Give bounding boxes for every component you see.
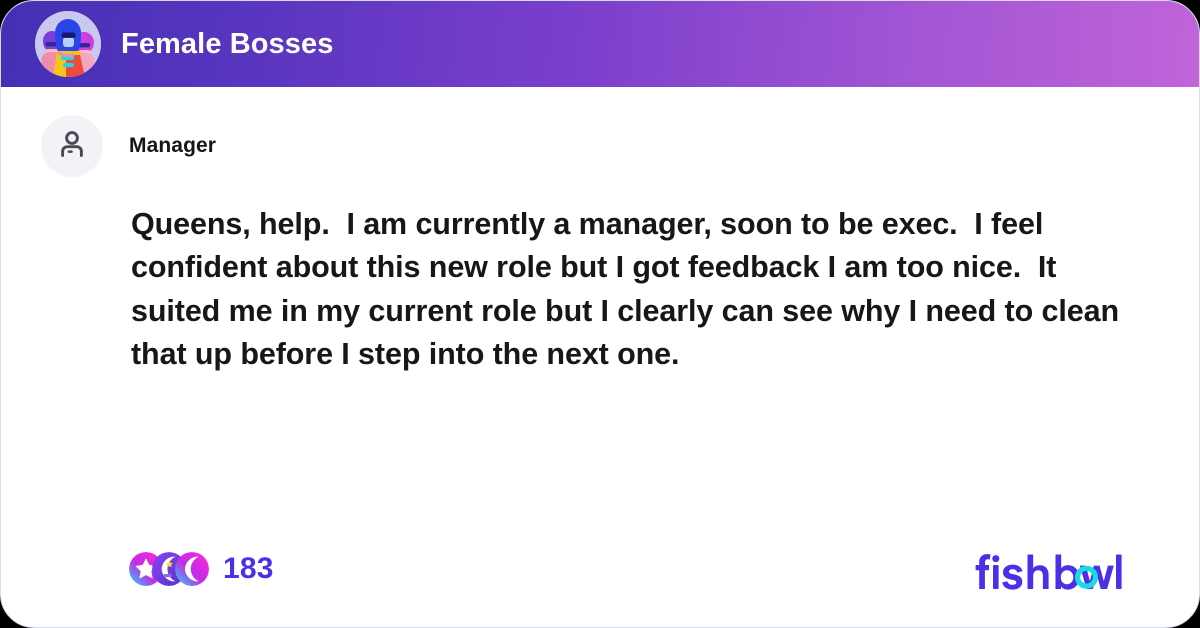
person-icon [56,128,88,165]
author-row: Manager [41,115,1159,177]
fishbowl-logo [973,545,1159,593]
group-avatar[interactable] [35,11,101,77]
post-text: Queens, help. I am currently a manager, … [131,203,1131,376]
post-body: Manager Queens, help. I am currently a m… [1,87,1199,627]
author-name: Manager [129,134,216,158]
author-avatar[interactable] [41,115,103,177]
reactions-group[interactable]: 183 [129,552,274,586]
group-title: Female Bosses [121,28,333,61]
reaction-count: 183 [223,552,274,586]
post-footer: 183 [41,545,1159,627]
fishbowl-post-card: Female Bosses Manager Queens, help. I am… [0,0,1200,628]
group-header: Female Bosses [1,1,1199,87]
fishbowl-wordmark-icon [973,545,1123,593]
reaction-badge-stack[interactable] [129,552,209,586]
crescent-reaction-icon[interactable] [175,552,209,586]
